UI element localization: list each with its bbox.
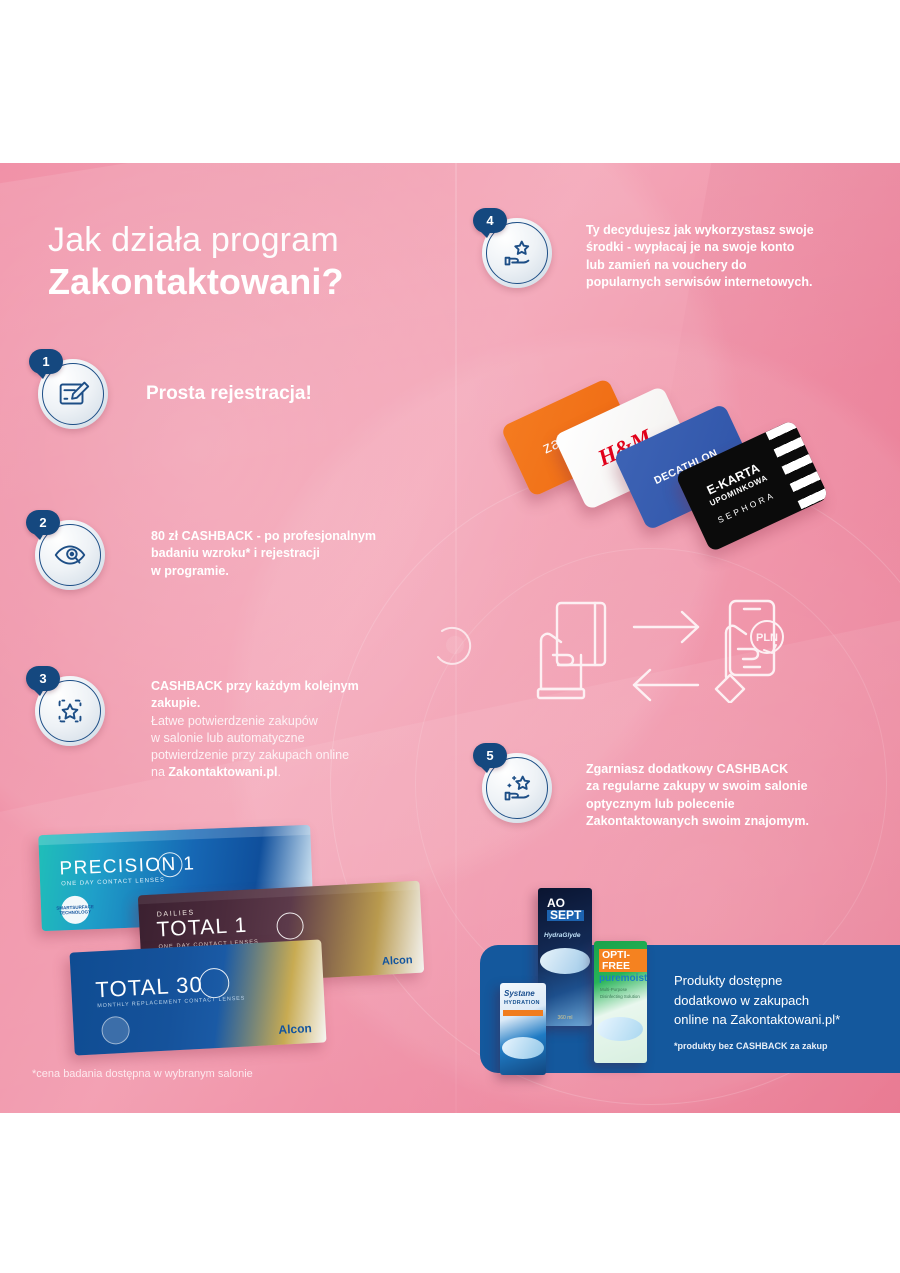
hand-star-icon <box>498 234 536 272</box>
precision-badge: SMARTSURFACE TECHNOLOGY <box>61 895 90 924</box>
title-line-1: Jak działa program <box>48 221 344 259</box>
step3-light-line4-suffix: . <box>277 765 280 779</box>
step5-line1: Zgarniasz dodatkowy CASHBACK <box>586 762 788 776</box>
opti-free-name: OPTI-FREE <box>599 949 647 972</box>
step3-light-line1: Łatwe potwierdzenie zakupów <box>151 714 318 728</box>
systane-wave <box>502 1037 544 1059</box>
small-ring-decoration <box>438 628 470 664</box>
box-top-strip <box>38 825 310 845</box>
pln-currency-label: PLN <box>756 632 778 644</box>
step-text-3: CASHBACK przy każdym kolejnym zakupie. Ł… <box>151 676 359 782</box>
product-systane: Systane HYDRATION <box>500 983 546 1075</box>
step-badge-wrap: 4 <box>482 218 552 288</box>
promo-line-2: dodatkowo w zakupach <box>674 993 809 1008</box>
step3-bold-line2: zakupie. <box>151 696 200 710</box>
hand-sparkle-star-icon <box>498 769 536 807</box>
eye-magnifier-icon <box>51 536 89 574</box>
step-item-1: 1 Prosta rejestracja! <box>38 359 312 429</box>
ao-sept-line2: SEPT <box>547 910 584 921</box>
star-dashed-square-icon <box>51 692 89 730</box>
step-number-badge: 5 <box>473 743 507 768</box>
step4-line2: środki - wypłacaj je na swoje konto <box>586 240 794 254</box>
box-ring-mark <box>276 912 304 940</box>
title-line-2: Zakontaktowani? <box>48 261 344 303</box>
systane-name: Systane <box>504 989 535 998</box>
page-footnote: *cena badania dostępna w wybranym saloni… <box>32 1068 253 1080</box>
hand-holding-card-icon <box>538 603 605 698</box>
step5-line4: Zakontaktowanych swoim znajomym. <box>586 814 809 828</box>
promo-text: Produkty dostępne dodatkowo w zakupach o… <box>674 971 840 1030</box>
opti-free-puremoist: puremoist <box>599 973 647 984</box>
opti-free-desc: Multi-Purpose Disinfecting Solution <box>600 987 642 1000</box>
step-number-badge: 1 <box>29 349 63 374</box>
poster-panel: Jak działa program Zakontaktowani? 1 Pro… <box>0 163 900 1113</box>
step3-site-link[interactable]: Zakontaktowani.pl <box>168 765 277 779</box>
total1-maker: Alcon <box>382 954 413 968</box>
sephora-labels: E-KARTA UPOMINKOWA SEPHORA <box>702 459 777 525</box>
step3-light-line3: potwierdzenie przy zakupach online <box>151 748 349 762</box>
product-box-total-30: TOTAL 30 MONTHLY REPLACEMENT CONTACT LEN… <box>69 939 326 1055</box>
opti-free-wave <box>597 1017 643 1041</box>
systane-bar <box>503 1010 543 1016</box>
gift-cards-group: zalando H&M DECATHLON E-KARTA UPOMINKOWA… <box>495 383 895 563</box>
promo-footnote: *produkty bez CASHBACK za zakup <box>674 1041 828 1051</box>
step4-line4: popularnych serwisów internetowych. <box>586 275 812 289</box>
step5-line3: optycznym lub polecenie <box>586 797 735 811</box>
total1-name: TOTAL 1 <box>156 914 248 943</box>
lens-products-group: PRECISION 1 ONE DAY CONTACT LENSES SMART… <box>32 828 432 1058</box>
step-text-5: Zgarniasz dodatkowy CASHBACK za regularn… <box>586 753 809 830</box>
precision-name: PRECISION 1 <box>59 853 196 880</box>
step-badge-wrap: 1 <box>38 359 108 429</box>
step2-line2: badaniu wzroku* i rejestracji <box>151 546 320 560</box>
ao-sept-volume: 360 ml <box>538 1015 592 1021</box>
step-badge-wrap: 5 <box>482 753 552 823</box>
step-text-2: 80 zł CASHBACK - po profesjonalnym badan… <box>151 520 376 580</box>
step5-line2: za regularne zakupy w swoim salonie <box>586 779 808 793</box>
step-number-badge: 3 <box>26 666 60 691</box>
systane-variant: HYDRATION <box>504 1000 540 1006</box>
step4-line1: Ty decydujesz jak wykorzystasz swoje <box>586 223 814 237</box>
product-opti-free: OPTI-FREE puremoist Multi-Purpose Disinf… <box>594 941 647 1063</box>
step-number-badge: 4 <box>473 208 507 233</box>
step-item-5: 5 Zgarniasz dodatkowy CASHBACK za regula… <box>482 753 809 830</box>
step-item-2: 2 80 zł CASHBACK - po profesjonalnym bad… <box>35 520 376 590</box>
total30-maker: Alcon <box>278 1021 312 1037</box>
step-badge-wrap: 2 <box>35 520 105 590</box>
ao-sept-wave <box>540 948 590 974</box>
promo-line-3: online na Zakontaktowani.pl* <box>674 1012 840 1027</box>
step2-line3: w programie. <box>151 564 229 578</box>
step2-line1: 80 zł CASHBACK - po profesjonalnym <box>151 529 376 543</box>
form-pencil-icon <box>54 375 92 413</box>
hand-holding-phone-icon: PLN <box>716 601 783 703</box>
step3-light-line2: w salonie lub automatyczne <box>151 731 305 745</box>
step-title-1: Prosta rejestracja! <box>146 383 312 404</box>
step-number-badge: 2 <box>26 510 60 535</box>
step-text-1: Prosta rejestracja! <box>146 359 312 407</box>
exchange-illustration: PLN <box>420 593 820 703</box>
promo-line-1: Produkty dostępne <box>674 973 782 988</box>
product-ao-sept: AO SEPT HydraGlyde 360 ml <box>538 888 592 1026</box>
step4-line3: lub zamień na vouchery do <box>586 258 746 272</box>
ao-sept-hydraglyde: HydraGlyde <box>544 932 581 939</box>
arrow-right-icon <box>634 612 698 642</box>
page-title: Jak działa program Zakontaktowani? <box>48 221 344 304</box>
step3-light-line4-prefix: na <box>151 765 168 779</box>
step3-bold-line1: CASHBACK przy każdym kolejnym <box>151 679 359 693</box>
step-text-4: Ty decydujesz jak wykorzystasz swoje śro… <box>586 218 814 291</box>
total30-seal <box>101 1016 130 1045</box>
step-item-3: 3 CASHBACK przy każdym kolejnym zakupie.… <box>35 676 359 782</box>
arrow-left-icon <box>634 670 698 700</box>
step-item-4: 4 Ty decydujesz jak wykorzystasz swoje ś… <box>482 218 814 291</box>
step-badge-wrap: 3 <box>35 676 105 746</box>
